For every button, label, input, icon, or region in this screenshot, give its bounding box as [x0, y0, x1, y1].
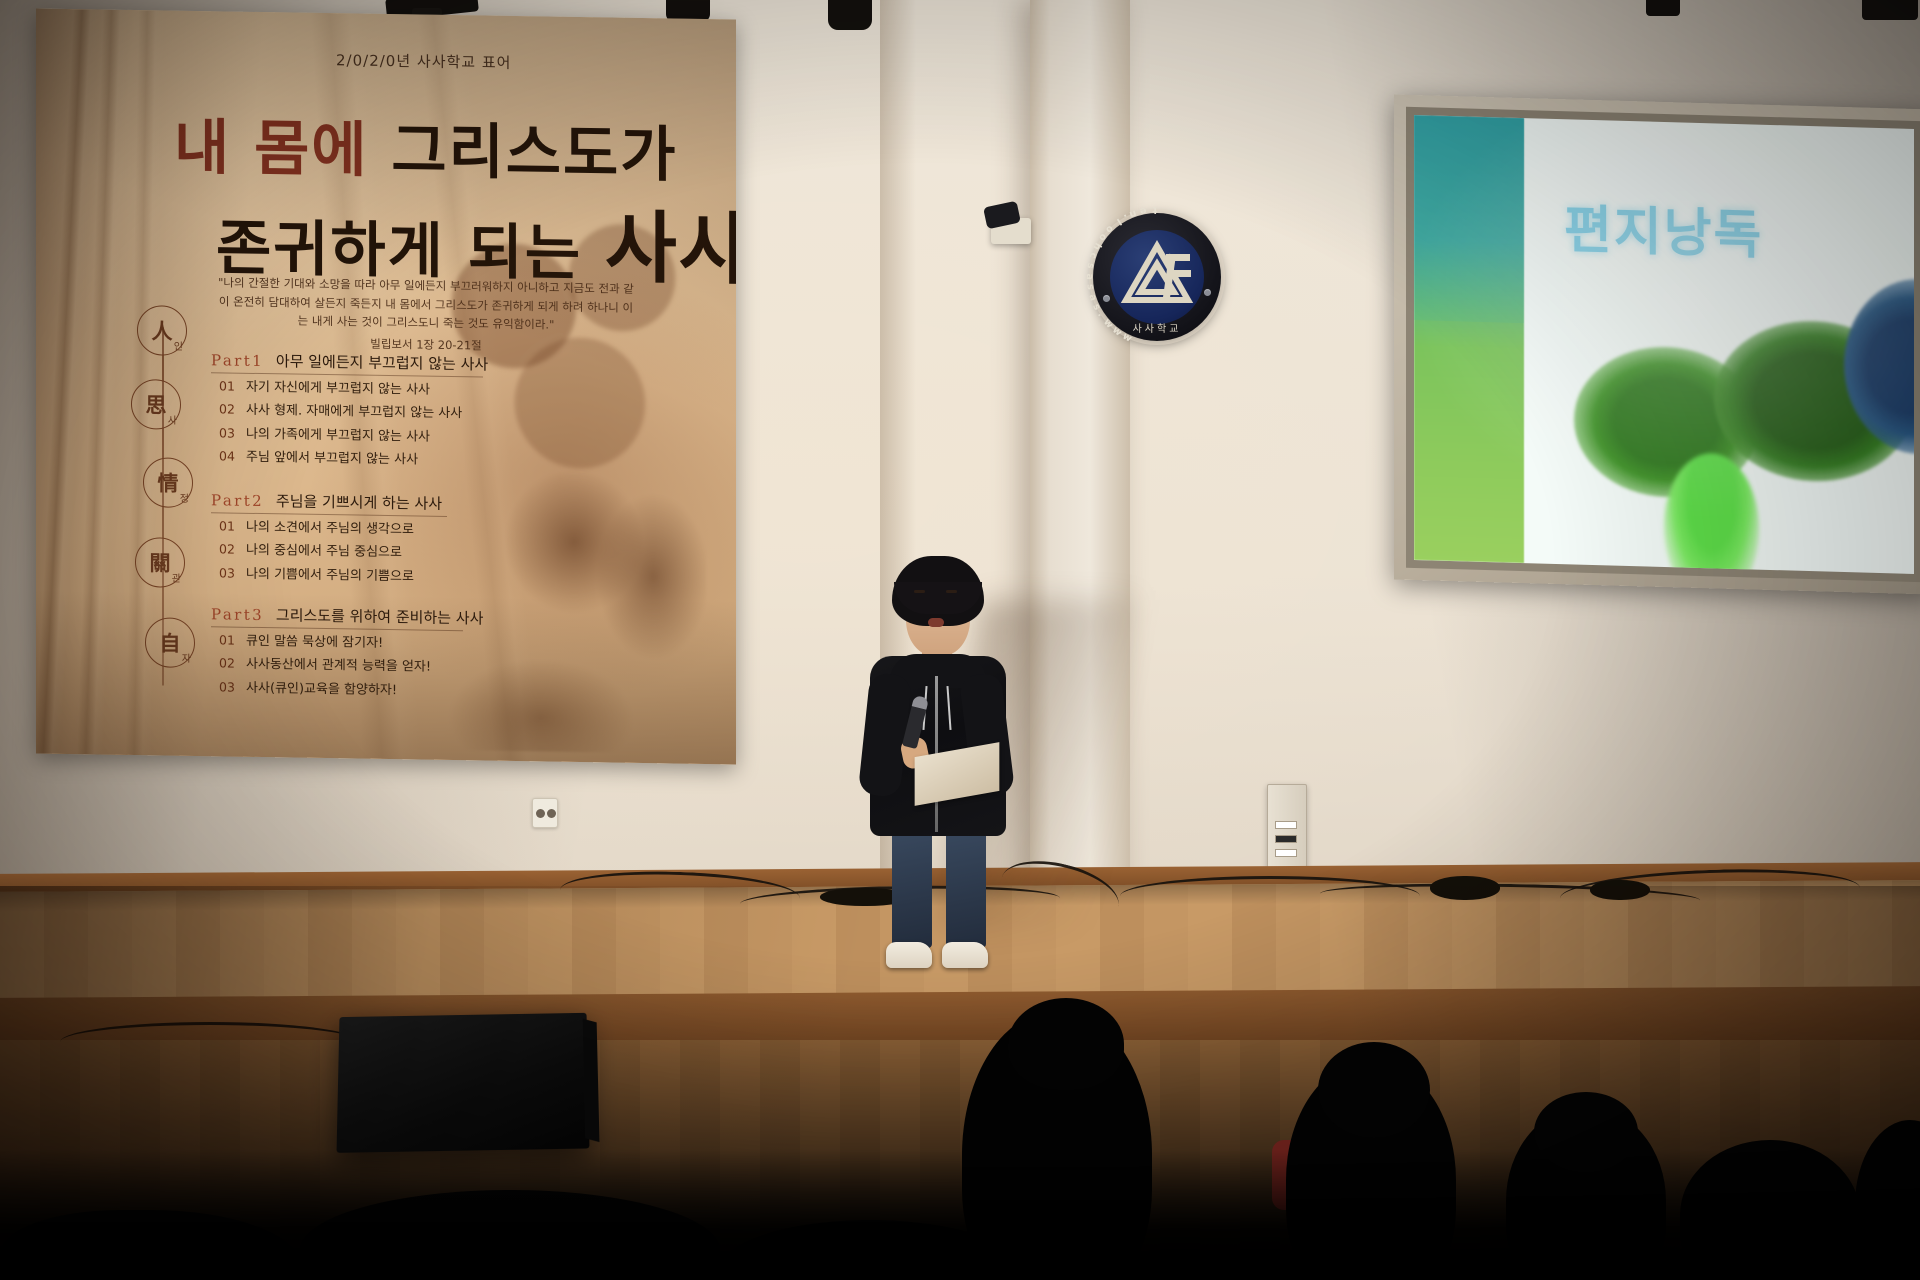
- part-3-item-2-num: 03: [219, 679, 235, 694]
- banner-year-label: 2/0/2/0년 사사학교 표어: [336, 49, 511, 73]
- part-1-item-2-num: 03: [219, 425, 235, 440]
- part-3-item-2-text: 사사(큐인)교육을 함양하자!: [246, 681, 397, 698]
- wall-power-outlet[interactable]: [532, 798, 558, 828]
- banner-title-red: 내 몸에: [174, 113, 369, 186]
- part-2-item-1-num: 02: [219, 542, 235, 557]
- projection-screen: 편지낭독: [1414, 115, 1914, 574]
- verse-text: "나의 간절한 기대와 소망을 따라 아무 일에든지 부끄러워하지 아니하고 지…: [218, 275, 634, 332]
- part-2-item-2-text: 나의 기쁨에서 주님의 기쁨으로: [246, 567, 414, 585]
- audience-head: [1318, 1042, 1430, 1138]
- part-3-item-0-num: 01: [219, 632, 235, 647]
- chain-node-4: 自 자: [145, 617, 195, 668]
- part-2-item-2-num: 03: [219, 565, 235, 580]
- school-emblem: w w w . s a s a s c h o o l . n e t 사사학교: [1093, 213, 1221, 341]
- outlet-socket-right: [547, 809, 556, 818]
- wall-mounted-camera-icon: [985, 200, 1043, 246]
- part-3-heading: Part3 그리스도를 위하여 준비하는 사사: [211, 603, 483, 628]
- part-1-item-3-num: 04: [219, 448, 235, 463]
- ceiling-light-2-icon: [828, 0, 872, 30]
- speaker-legs: [888, 828, 992, 954]
- slide-title: 편지낭독: [1564, 187, 1763, 268]
- chain-node-3: 關 관: [135, 537, 185, 588]
- monitor-side-panel: [583, 1019, 600, 1142]
- speaker-leg-right: [946, 828, 986, 948]
- chain-node-2-hanja: 情: [158, 467, 179, 497]
- part-3-title: 그리스도를 위하여 준비하는 사사: [276, 606, 484, 627]
- banner-part-2: Part2 주님을 기쁘시게 하는 사사 01 나의 소견에서 주님의 생각으로…: [211, 489, 442, 589]
- stage-monitor-speaker: [336, 1013, 589, 1153]
- chain-node-0-hangul: 인: [174, 338, 183, 353]
- banner-scripture-verse: "나의 간절한 기대와 소망을 따라 아무 일에든지 부끄러워하지 아니하고 지…: [216, 273, 636, 357]
- chain-node-0: 人 인: [137, 305, 187, 356]
- banner-value-chain: 人 인 思 사 情 정 關 관 自 자: [131, 305, 211, 706]
- part-3-item-0-text: 큐인 말씀 묵상에 잠기자!: [246, 634, 383, 651]
- school-motto-banner: 2/0/2/0년 사사학교 표어 내 몸에 그리스도가 존귀하게 되는 사사 "…: [36, 9, 736, 765]
- floor-cable: [60, 1022, 360, 1062]
- part-1-label: Part1: [211, 351, 264, 370]
- audience-head: [1008, 998, 1124, 1090]
- part-3-item-1-num: 02: [219, 656, 235, 671]
- panel-switch-1[interactable]: [1275, 821, 1297, 829]
- part-1-item-1-num: 02: [219, 402, 235, 417]
- chain-node-3-hangul: 관: [172, 570, 181, 585]
- banner-part-1: Part1 아무 일에든지 부끄럽지 않는 사사 01 자기 자신에게 부끄럽지…: [211, 349, 488, 473]
- speaker-shoe-right: [942, 942, 988, 968]
- ceiling-light-4-icon: [1862, 0, 1918, 20]
- cable-coil: [1430, 876, 1500, 900]
- speaker-shoe-left: [886, 942, 932, 968]
- banner-title-black: 그리스도가: [391, 116, 677, 190]
- part-3-item-1-text: 사사동산에서 관계적 능력을 얻자!: [246, 657, 431, 675]
- panel-switch-3[interactable]: [1275, 849, 1297, 857]
- slide-color-band-top: [1414, 115, 1524, 323]
- cable-coil: [1590, 880, 1650, 900]
- chain-node-4-hanja: 自: [160, 627, 181, 657]
- emblem-inner-disc: [1110, 230, 1204, 324]
- speaker-leg-left: [892, 828, 932, 948]
- part-2-item-2: 03 나의 기쁨에서 주님의 기쁨으로: [211, 562, 442, 589]
- emblem-stud-right: [1204, 289, 1211, 296]
- part-2-item-0-text: 나의 소견에서 주님의 생각으로: [246, 520, 414, 538]
- projection-screen-frame: 편지낭독: [1394, 94, 1920, 594]
- banner-part-3: Part3 그리스도를 위하여 준비하는 사사 01 큐인 말씀 묵상에 잠기자…: [211, 603, 483, 703]
- part-2-item-0-num: 01: [219, 518, 235, 533]
- outlet-socket-left: [536, 809, 545, 818]
- speaker-eye-left: [914, 590, 925, 593]
- part-2-item-1: 02 나의 중심에서 주님 중심으로: [211, 539, 442, 566]
- part-1-item-0-num: 01: [219, 378, 235, 393]
- emblem-school-name: 사사학교: [1093, 320, 1221, 335]
- part-2-item-1-text: 나의 중심에서 주님 중심으로: [246, 543, 402, 560]
- part-1-item-3-text: 주님 앞에서 부끄럽지 않는 사사: [246, 450, 418, 468]
- foreground-darkness: [0, 1150, 1920, 1280]
- chain-node-4-hangul: 자: [182, 650, 191, 665]
- part-2-heading: Part2 주님을 기쁘시게 하는 사사: [211, 489, 442, 514]
- part-1-item-2-text: 나의 가족에게 부끄럽지 않는 사사: [246, 427, 430, 445]
- part-2-title: 주님을 기쁘시게 하는 사사: [276, 492, 442, 513]
- emblem-triangle-logo-icon: [1110, 230, 1204, 324]
- speaker-eye-right: [946, 590, 957, 593]
- part-1-item-3: 04 주님 앞에서 부끄럽지 않는 사사: [211, 445, 488, 473]
- auditorium-photo: 2/0/2/0년 사사학교 표어 내 몸에 그리스도가 존귀하게 되는 사사 "…: [0, 0, 1920, 1280]
- part-1-title: 아무 일에든지 부끄럽지 않는 사사: [276, 352, 488, 373]
- chain-node-1-hanja: 思: [146, 389, 167, 419]
- chain-node-3-hanja: 關: [150, 547, 171, 577]
- part-1-item-1-text: 사사 형제. 자매에게 부끄럽지 않는 사사: [246, 403, 462, 421]
- part-3-item-2: 03 사사(큐인)교육을 함양하자!: [211, 676, 483, 704]
- panel-switch-2[interactable]: [1275, 835, 1297, 843]
- chain-node-1-hangul: 사: [168, 412, 177, 427]
- chain-node-2-hangul: 정: [180, 490, 189, 505]
- projection-screen-inner-frame: 편지낭독: [1406, 107, 1920, 582]
- chain-node-0-hanja: 人: [152, 315, 173, 345]
- part-1-item-0-text: 자기 자신에게 부끄럽지 않는 사사: [246, 380, 430, 398]
- emblem-stud-left: [1103, 295, 1110, 302]
- part-2-label: Part2: [211, 491, 264, 510]
- chain-node-2: 情 정: [143, 457, 193, 508]
- speaker-mouth: [928, 618, 944, 627]
- ceiling-light-3-icon: [1646, 0, 1680, 16]
- part-3-label: Part3: [211, 605, 264, 624]
- chain-node-1: 思 사: [131, 379, 181, 430]
- part-1-heading: Part1 아무 일에든지 부끄럽지 않는 사사: [211, 349, 488, 374]
